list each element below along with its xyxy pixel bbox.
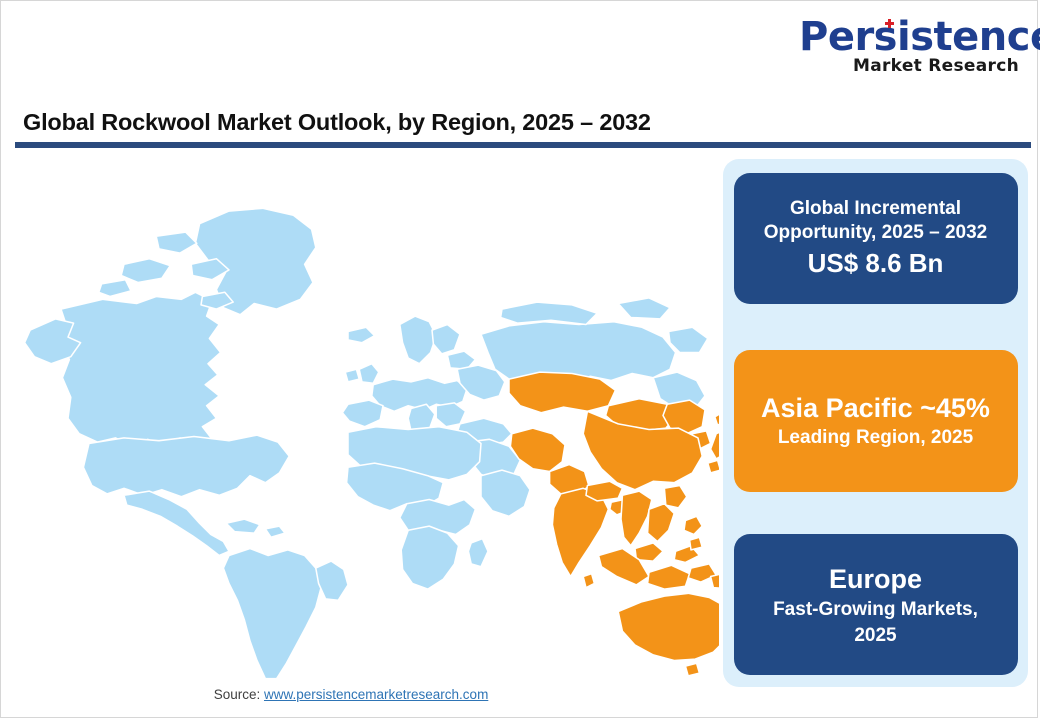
card1-line1: Global Incremental bbox=[790, 197, 961, 222]
card-fast-growing-market[interactable]: Europe Fast-Growing Markets, 2025 bbox=[734, 534, 1018, 675]
card2-subtitle: Leading Region, 2025 bbox=[778, 426, 973, 451]
world-map bbox=[19, 159, 719, 679]
card3-headline: Europe bbox=[829, 561, 922, 597]
card3-subtitle-line1: Fast-Growing Markets, bbox=[773, 597, 978, 623]
page-title: Global Rockwool Market Outlook, by Regio… bbox=[23, 109, 651, 136]
card1-line2: Opportunity, 2025 – 2032 bbox=[764, 221, 988, 246]
stats-panel: Global Incremental Opportunity, 2025 – 2… bbox=[723, 159, 1028, 687]
red-cross-dot-icon bbox=[885, 19, 894, 28]
card-leading-region[interactable]: Asia Pacific ~45% Leading Region, 2025 bbox=[734, 350, 1018, 491]
card2-headline: Asia Pacific ~45% bbox=[761, 391, 990, 426]
infographic-canvas: Persistence Market Research Global Rockw… bbox=[0, 0, 1038, 718]
company-logo: Persistence Market Research bbox=[799, 17, 1019, 75]
source-line: Source: www.persistencemarketresearch.co… bbox=[1, 687, 701, 702]
logo-name: Persistence bbox=[799, 14, 1040, 60]
source-label: Source: bbox=[214, 687, 261, 702]
card3-subtitle-line2: 2025 bbox=[854, 623, 896, 649]
world-map-svg bbox=[19, 159, 719, 679]
title-divider bbox=[15, 142, 1031, 148]
source-link[interactable]: www.persistencemarketresearch.com bbox=[264, 687, 488, 702]
card1-value: US$ 8.6 Bn bbox=[808, 246, 944, 281]
card-global-incremental-opportunity[interactable]: Global Incremental Opportunity, 2025 – 2… bbox=[734, 173, 1018, 304]
logo-wordmark: Persistence bbox=[799, 17, 1040, 57]
map-highlight-asia-pacific bbox=[509, 372, 719, 676]
logo-tagline: Market Research bbox=[799, 58, 1019, 75]
